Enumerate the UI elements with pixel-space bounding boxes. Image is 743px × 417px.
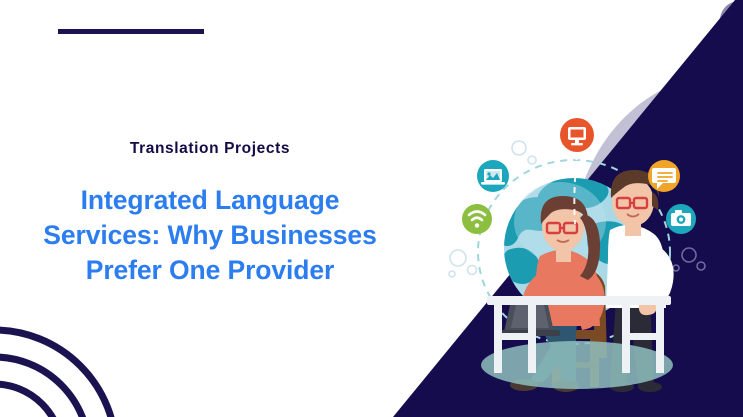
headline-line-1: Integrated Language: [38, 183, 382, 218]
chat-icon: [648, 160, 680, 192]
floor-shadow: [481, 341, 673, 389]
page-title: Integrated Language Services: Why Busine…: [0, 183, 420, 288]
camera-icon: [666, 204, 696, 234]
wifi-icon: [462, 204, 492, 234]
top-rule-decoration: [58, 29, 204, 34]
headline-line-3: Prefer One Provider: [38, 253, 382, 288]
monitor-icon: [560, 118, 594, 152]
headline-line-2: Services: Why Businesses: [38, 218, 382, 253]
slide-text-block: Translation Projects Integrated Language…: [0, 140, 420, 288]
slide-canvas: Translation Projects Integrated Language…: [0, 0, 743, 417]
image-icon: [477, 160, 509, 192]
eyebrow-label: Translation Projects: [0, 140, 420, 157]
